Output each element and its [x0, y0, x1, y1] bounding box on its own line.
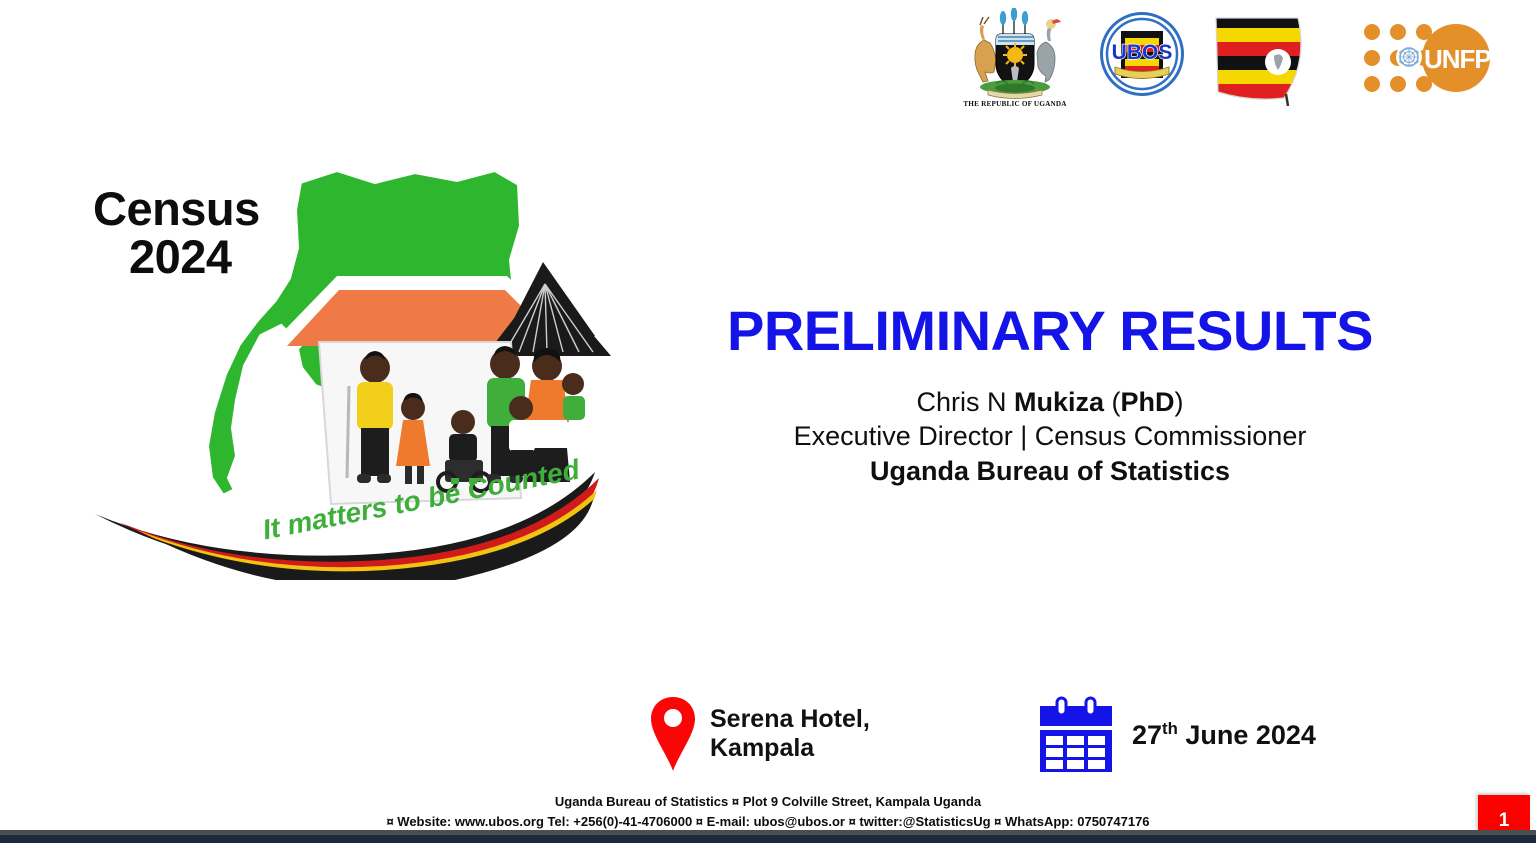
page-title: PRELIMINARY RESULTS — [660, 298, 1440, 363]
census-2024-logo: Census 2024 It matters to be Counted — [75, 160, 635, 580]
author-degree: PhD — [1121, 387, 1175, 417]
location-pin-icon — [650, 696, 696, 772]
unfpa-dot — [1390, 76, 1406, 92]
author-role: Executive Director | Census Commissioner — [660, 419, 1440, 453]
author-name-line: Chris N Mukiza (PhD) — [660, 385, 1440, 419]
slide-canvas: THE REPUBLIC OF UGANDA — [0, 0, 1536, 843]
bottom-divider-navy — [0, 835, 1536, 843]
date-ordinal: th — [1162, 719, 1178, 738]
date-group: 27th June 2024 — [1038, 696, 1316, 774]
svg-text:UBOS: UBOS — [1112, 41, 1173, 64]
date-rest: June 2024 — [1178, 720, 1316, 750]
footer-contact-block: Uganda Bureau of Statistics ¤ Plot 9 Col… — [0, 792, 1536, 832]
uganda-flag-slot — [1184, 8, 1316, 106]
census-year-text: 2024 — [129, 233, 260, 281]
author-block: Chris N Mukiza (PhD) Executive Director … — [660, 385, 1440, 488]
venue-and-date-row: Serena Hotel, Kampala — [640, 690, 1400, 795]
coat-of-arms-caption: THE REPUBLIC OF UGANDA — [956, 100, 1074, 108]
census-word-text: Census — [93, 182, 260, 235]
uganda-flag-icon — [1212, 14, 1316, 106]
venue-group: Serena Hotel, Kampala — [650, 696, 870, 772]
census-logo-wordmark: Census 2024 — [93, 185, 260, 281]
venue-line-2: Kampala — [710, 734, 870, 764]
author-organisation: Uganda Bureau of Statistics — [660, 454, 1440, 488]
calendar-icon — [1038, 696, 1114, 774]
page-number-badge: 1 — [1478, 795, 1530, 833]
unfpa-dot — [1390, 24, 1406, 40]
ubos-logo-slot: UBOS — [1074, 8, 1184, 96]
date-day: 27 — [1132, 720, 1162, 750]
unfpa-logo-icon: UNFPA — [1364, 22, 1514, 94]
un-emblem-svg — [1396, 44, 1422, 70]
venue-line-1: Serena Hotel, — [710, 705, 870, 735]
location-pin-svg — [650, 696, 696, 772]
unfpa-wordmark: UNFPA — [1424, 44, 1507, 75]
unfpa-dot — [1364, 24, 1380, 40]
ubos-logo-icon: UBOS — [1100, 12, 1184, 96]
coat-of-arms-logo: THE REPUBLIC OF UGANDA — [950, 8, 1074, 108]
unfpa-logo-slot: UNFPA — [1316, 8, 1514, 94]
header-logo-bar: THE REPUBLIC OF UGANDA — [950, 8, 1536, 112]
author-name-prefix: Chris N — [916, 387, 1014, 417]
unfpa-dot — [1364, 76, 1380, 92]
coat-of-arms-svg — [956, 8, 1074, 100]
venue-text: Serena Hotel, Kampala — [710, 705, 870, 764]
unfpa-dot — [1364, 50, 1380, 66]
author-surname: Mukiza — [1014, 387, 1104, 417]
ubos-logo-svg: UBOS — [1105, 17, 1179, 91]
calendar-svg — [1038, 696, 1114, 774]
author-paren-open: ( — [1104, 387, 1121, 417]
uganda-flag-svg — [1212, 14, 1316, 106]
footer-line-1: Uganda Bureau of Statistics ¤ Plot 9 Col… — [0, 792, 1536, 812]
author-paren-close: ) — [1175, 387, 1184, 417]
event-date: 27th June 2024 — [1132, 719, 1316, 751]
coat-of-arms-icon: THE REPUBLIC OF UGANDA — [956, 8, 1074, 108]
un-emblem-icon — [1396, 44, 1422, 70]
